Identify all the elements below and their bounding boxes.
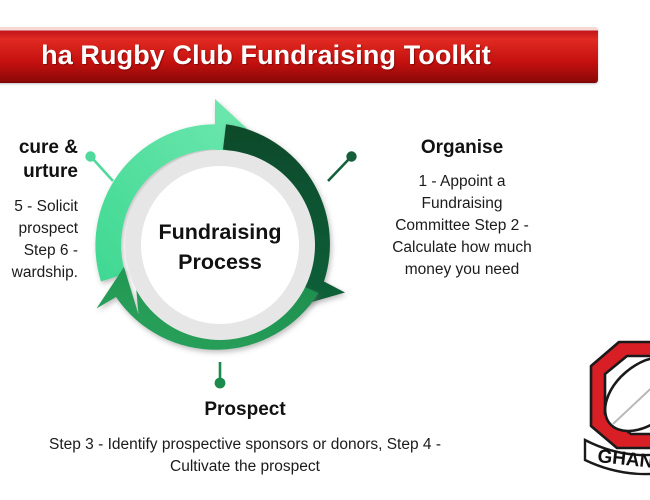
secure-and-nurture-heading: cure & urture [0, 136, 78, 185]
ghana-rugby-logo: GHANA [583, 336, 650, 486]
cycle-center-label-line2: Process [178, 250, 262, 274]
page-title: ha Rugby Club Fundraising Toolkit [0, 40, 595, 71]
cycle-center-label-line1: Fundraising [158, 220, 281, 244]
organise-text-block: Organise 1 - Appoint a Fundraising Commi… [364, 136, 560, 281]
connector-prospect [215, 362, 226, 388]
prospect-body: Step 3 - Identify prospective sponsors o… [0, 434, 490, 478]
organise-body: 1 - Appoint a Fundraising Committee Step… [364, 171, 560, 281]
page-title-banner: ha Rugby Club Fundraising Toolkit [0, 27, 598, 83]
fundraising-process-cycle-diagram: Fundraising Process [60, 85, 380, 405]
connector-organise [328, 151, 357, 181]
prospect-text-block: Prospect Step 3 - Identify prospective s… [0, 398, 490, 478]
prospect-heading: Prospect [0, 398, 490, 422]
secure-and-nurture-body: 5 - Solicit prospect Step 6 - wardship. [0, 196, 78, 284]
secure-and-nurture-text-block: cure & urture 5 - Solicit prospect Step … [0, 136, 78, 284]
inner-disc [141, 166, 299, 324]
connector-secure-and-nurture [85, 151, 113, 181]
organise-heading: Organise [364, 136, 560, 160]
